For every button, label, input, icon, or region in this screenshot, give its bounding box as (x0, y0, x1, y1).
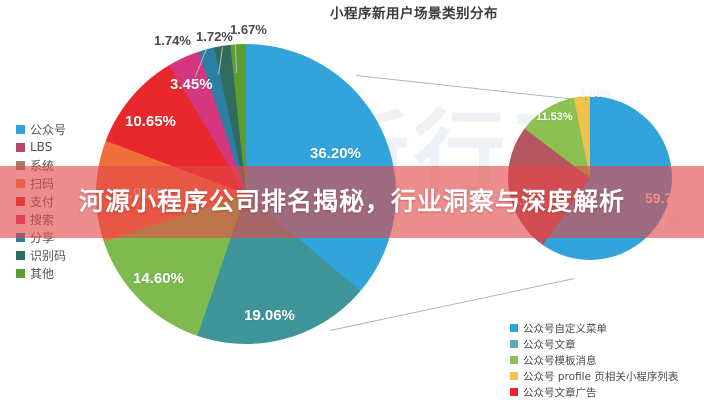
chart-canvas: 新行了 小程序新用户场景类别分布 1.74% 1.72% 1.67% 36.20… (0, 0, 704, 400)
legend-label: LBS (30, 140, 52, 154)
legend-item[interactable]: 其他 (16, 264, 66, 282)
main-slice-label-1-74: 1.74% (154, 33, 191, 48)
legend-item[interactable]: 公众号模板消息 (510, 352, 678, 368)
legend-label: 公众号自定义菜单 (523, 321, 607, 336)
legend-swatch-icon (16, 251, 25, 260)
legend-swatch-icon (510, 388, 518, 396)
legend-item[interactable]: LBS (16, 138, 66, 156)
legend-item[interactable]: 公众号 (16, 120, 66, 138)
main-slice-label-1-72: 1.72% (196, 29, 233, 44)
legend-swatch-icon (510, 324, 518, 332)
headline-text: 河源小程序公司排名揭秘，行业洞察与深度解析 (32, 186, 672, 218)
legend-label: 识别码 (30, 247, 66, 264)
legend-swatch-icon (16, 143, 25, 152)
headline-overlay-banner: 河源小程序公司排名揭秘，行业洞察与深度解析 (0, 166, 704, 238)
page-title-text: 小程序新用户场景类别分布 (330, 2, 498, 22)
legend-item[interactable]: 公众号文章 (510, 336, 678, 352)
main-slice-label-1-67: 1.67% (230, 22, 267, 37)
legend-item[interactable]: 识别码 (16, 246, 66, 264)
legend-item[interactable]: 公众号文章广告 (510, 384, 678, 400)
legend-swatch-icon (510, 340, 518, 348)
legend-item[interactable]: 公众号自定义菜单 (510, 320, 678, 336)
legend-label: 公众号文章广告 (523, 385, 597, 400)
legend-label: 公众号 (30, 121, 66, 138)
legend-label: 公众号 profile 页相关小程序列表 (523, 369, 678, 384)
legend-label: 公众号模板消息 (523, 353, 597, 368)
legend-swatch-icon (510, 372, 518, 380)
legend-swatch-icon (16, 125, 25, 134)
legend-label: 其他 (30, 265, 54, 282)
sub-pie-legend: 公众号自定义菜单 公众号文章 公众号模板消息 公众号 profile 页相关小程… (510, 320, 678, 400)
legend-swatch-icon (16, 269, 25, 278)
page-title: 小程序新用户场景类别分布 (0, 2, 704, 22)
legend-swatch-icon (510, 356, 518, 364)
legend-label: 公众号文章 (523, 337, 576, 352)
legend-item[interactable]: 公众号 profile 页相关小程序列表 (510, 368, 678, 384)
